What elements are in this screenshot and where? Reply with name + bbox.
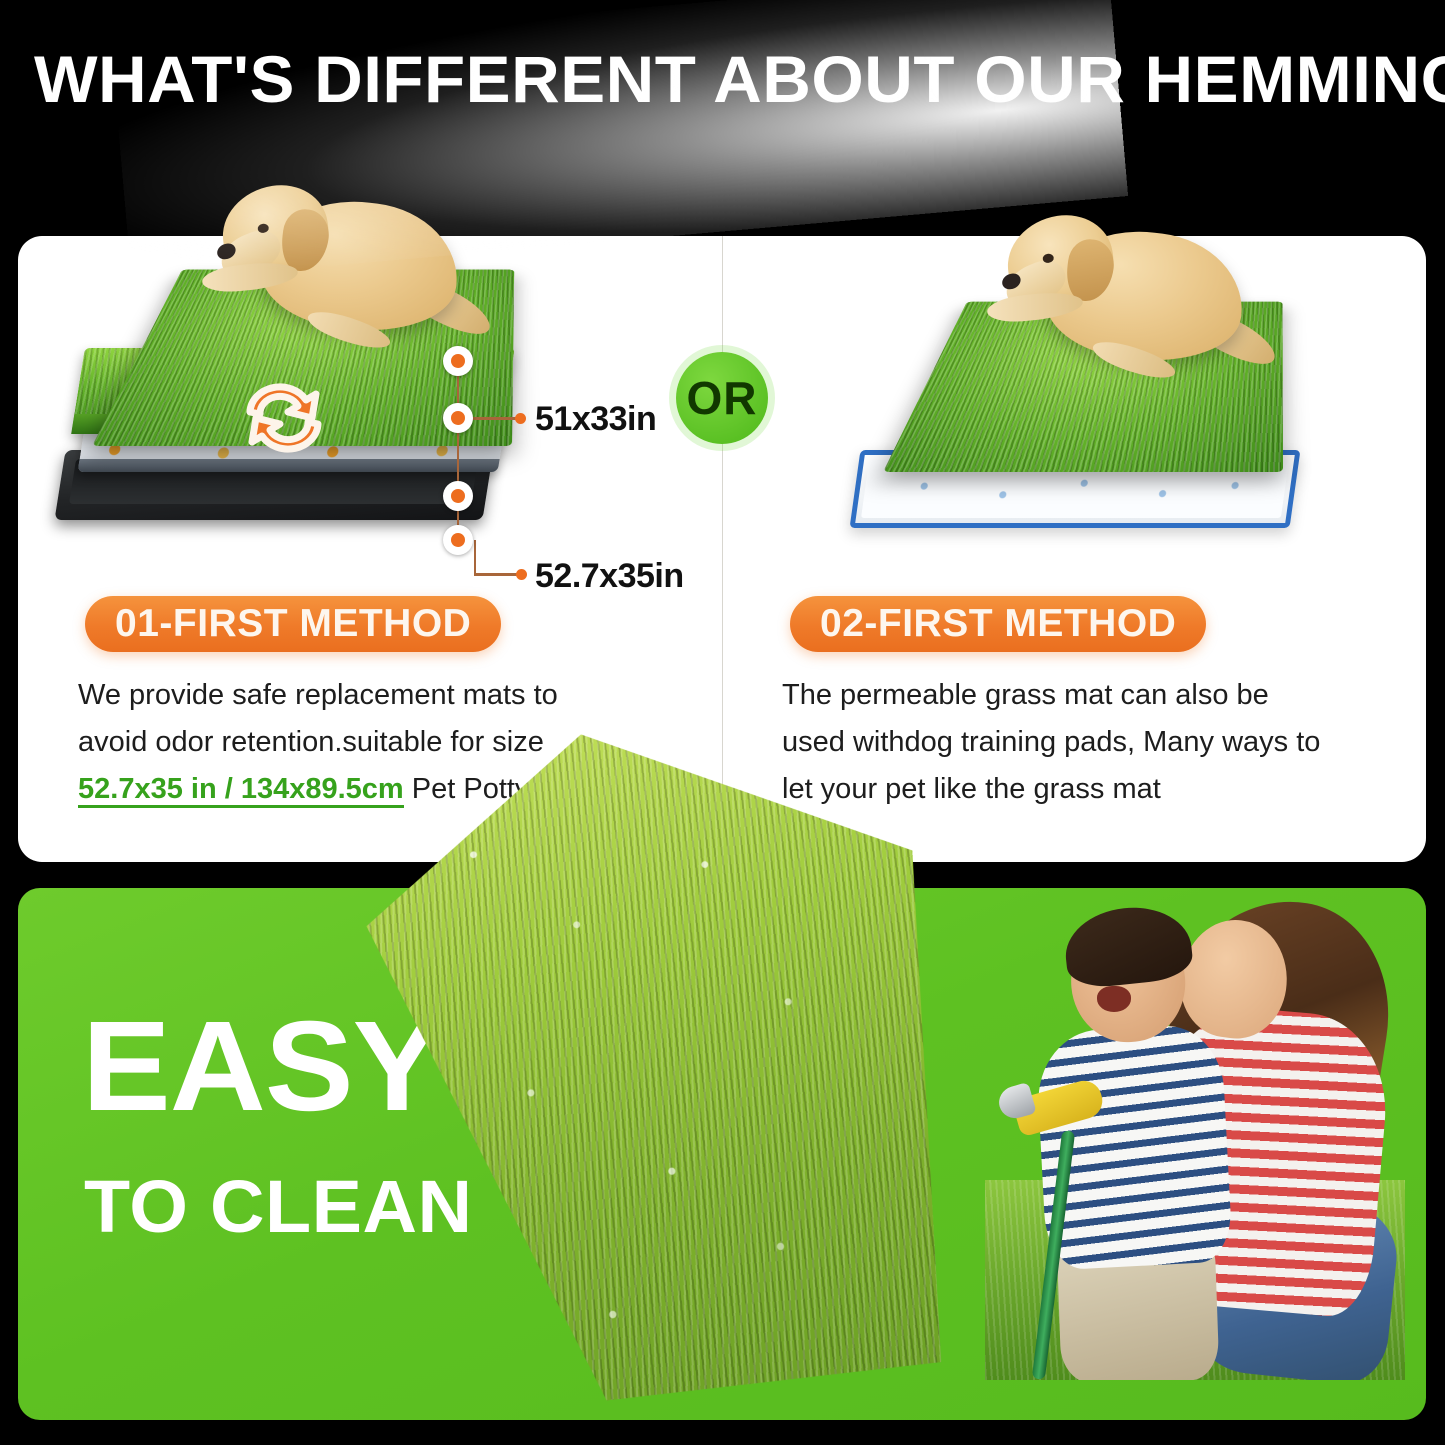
or-badge: OR — [676, 352, 768, 444]
desc2-line-1: The permeable grass mat can also be — [782, 679, 1269, 711]
leader-end-51x33 — [515, 413, 526, 424]
method-badge-01: 01-FIRST METHOD — [85, 596, 501, 652]
measure-marker-52x35 — [443, 525, 473, 555]
leader-end-52x35 — [516, 569, 527, 580]
wet-grass-mat-image — [360, 713, 966, 1416]
dog-ear — [279, 207, 332, 274]
dog-head — [216, 178, 334, 280]
golden-retriever-dog-right — [995, 198, 1257, 398]
size-highlight: 52.7x35 in / 134x89.5cm — [78, 773, 404, 808]
leader-vline-52x35 — [474, 540, 476, 574]
dog-nose — [215, 241, 238, 262]
leader-line-51x33 — [471, 417, 519, 420]
leader-vline-lower — [457, 433, 459, 485]
method-badge-02: 02-FIRST METHOD — [790, 596, 1206, 652]
measurement-label-52x35: 52.7x35in — [535, 557, 684, 596]
measurement-label-51x33: 51x33in — [535, 400, 656, 439]
right-product-image — [845, 150, 1325, 570]
recycle-arrows-icon — [232, 372, 336, 464]
dog-eye — [257, 223, 269, 234]
desc-line-1: We provide safe replacement mats to — [78, 679, 558, 711]
leader-line-52x35 — [474, 573, 520, 576]
boy-mouth — [1097, 986, 1131, 1012]
page-title: WHAT'S DIFFERENT ABOUT OUR HEMMING GRASS… — [34, 40, 1442, 118]
measure-marker-top — [443, 346, 473, 376]
family-with-hose-image — [985, 800, 1405, 1380]
measure-marker-51x33 — [443, 403, 473, 433]
measure-marker-liner — [443, 481, 473, 511]
wet-grass-surface — [360, 713, 966, 1416]
